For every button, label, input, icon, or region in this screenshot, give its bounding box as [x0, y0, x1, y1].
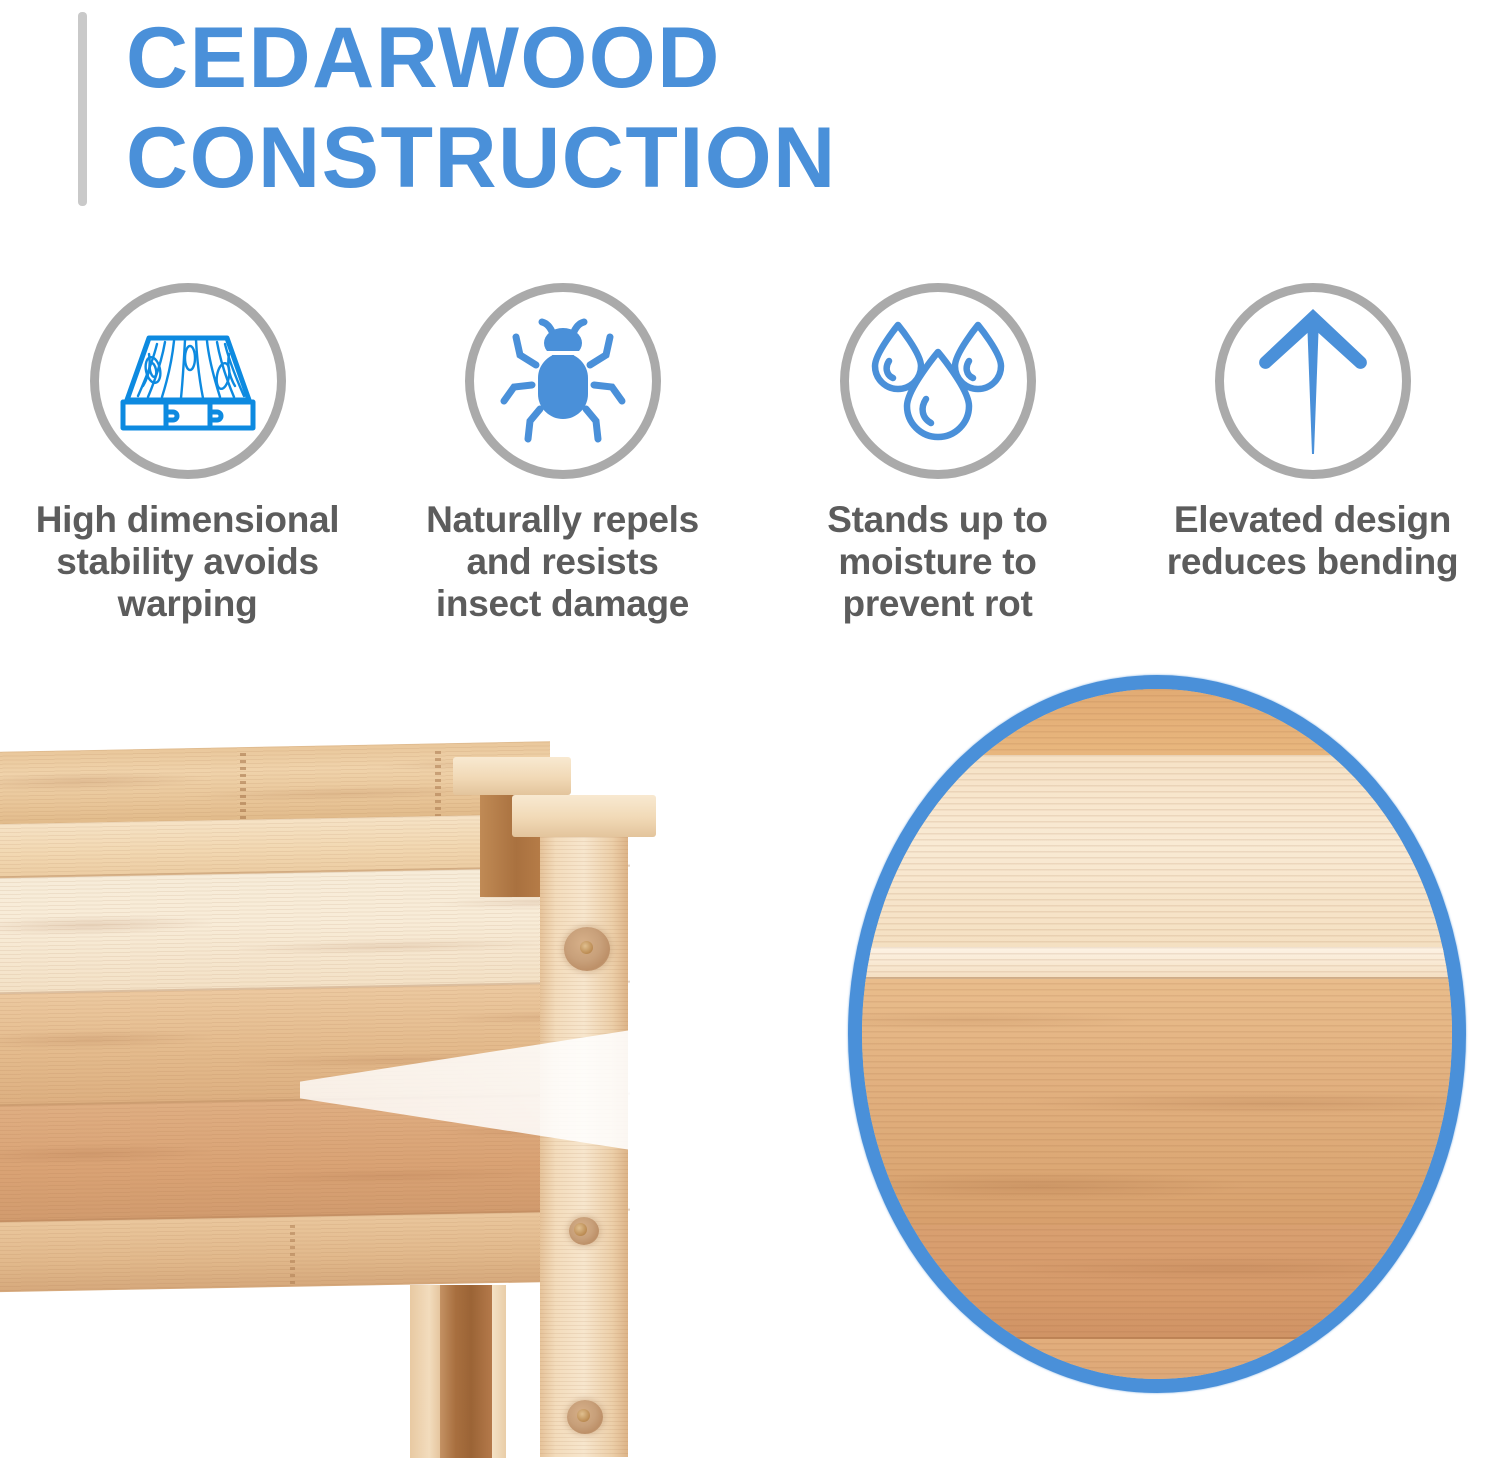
feature-list: High dimensional stability avoids warpin… [0, 283, 1500, 643]
feature-icon-circle [840, 283, 1036, 479]
feature-caption-line: insect damage [393, 583, 733, 625]
raised-garden-bed [0, 745, 700, 1458]
bug-icon [498, 317, 628, 445]
bed-post-cap-rear [453, 757, 571, 795]
feature-caption: Stands up to moisture to prevent rot [768, 499, 1108, 625]
closeup-wood-grain-figure [862, 689, 1452, 1379]
screw-head [574, 1223, 587, 1236]
page-title-line-1: CEDARWOOD [126, 8, 1076, 108]
bed-corner-post-front [540, 817, 628, 1457]
product-photo [0, 650, 1500, 1458]
feature-icon-circle [1215, 283, 1411, 479]
heading-accent-rule [78, 12, 87, 206]
feature-caption-line: prevent rot [768, 583, 1108, 625]
feature-caption-line: High dimensional [18, 499, 358, 541]
feature-caption: High dimensional stability avoids warpin… [18, 499, 358, 625]
feature-caption-line: Stands up to [768, 499, 1108, 541]
bed-leg-rear [440, 1285, 492, 1458]
feature-item-elevated-design: Elevated design reduces bending [1125, 283, 1500, 643]
bed-leg-inner-edge [410, 1285, 442, 1458]
bed-bottom-trim [0, 1211, 620, 1293]
heading-block: CEDARWOOD CONSTRUCTION [78, 8, 1078, 208]
screw-head [580, 941, 593, 954]
up-arrow-icon [1253, 306, 1373, 456]
board-joint-mark [240, 753, 246, 825]
page-title-line-2: CONSTRUCTION [126, 108, 1076, 208]
feature-item-insect-resistance: Naturally repels and resists insect dama… [375, 283, 750, 643]
feature-caption-line: Elevated design [1143, 499, 1483, 541]
closeup-plank-seam [862, 977, 1452, 979]
feature-icon-circle [465, 283, 661, 479]
board-joint-mark [290, 1225, 295, 1287]
bed-post-cap-front [512, 795, 656, 837]
closeup-plank-seam [862, 1337, 1452, 1339]
feature-caption: Elevated design reduces bending [1143, 499, 1483, 583]
page-title: CEDARWOOD CONSTRUCTION [126, 8, 1076, 208]
wood-grain-boards-icon [113, 326, 263, 436]
screw-head [577, 1409, 590, 1422]
infographic-page: CEDARWOOD CONSTRUCTION [0, 0, 1500, 1458]
wood-grain-closeup-magnifier [848, 675, 1466, 1393]
feature-caption-line: warping [18, 583, 358, 625]
feature-caption-line: moisture to [768, 541, 1108, 583]
feature-item-moisture-resistance: Stands up to moisture to prevent rot [750, 283, 1125, 643]
magnifier-content [862, 689, 1452, 1379]
feature-caption-line: Naturally repels [393, 499, 733, 541]
feature-item-dimensional-stability: High dimensional stability avoids warpin… [0, 283, 375, 643]
feature-caption-line: stability avoids [18, 541, 358, 583]
feature-icon-circle [90, 283, 286, 479]
feature-caption-line: reduces bending [1143, 541, 1483, 583]
feature-caption: Naturally repels and resists insect dama… [393, 499, 733, 625]
feature-caption-line: and resists [393, 541, 733, 583]
water-droplets-icon [867, 319, 1009, 443]
bed-leg-gap [492, 1285, 506, 1458]
